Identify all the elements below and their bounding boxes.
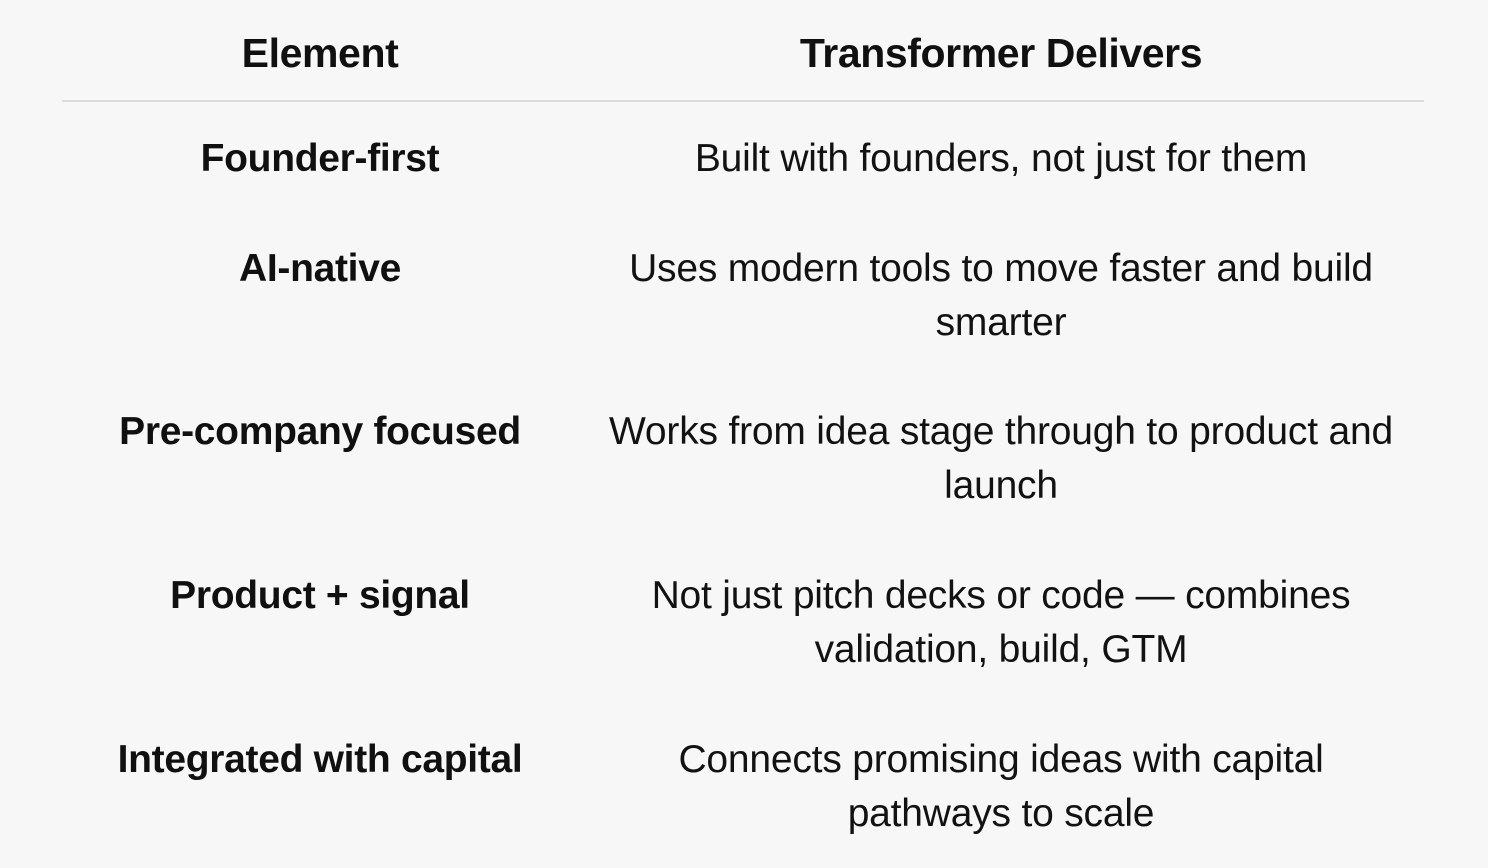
delivers-description: Built with founders, not just for them (578, 132, 1424, 186)
table-cell-delivers: Connects promising ideas with capital pa… (578, 705, 1424, 868)
delivers-description: Works from idea stage through to product… (578, 405, 1424, 513)
delivers-description: Uses modern tools to move faster and bui… (578, 242, 1424, 350)
table-cell-element: Integrated with capital (62, 705, 578, 868)
table-cell-delivers: Built with founders, not just for them (578, 104, 1424, 214)
column-header-transformer-delivers: Transformer Delivers (578, 30, 1424, 77)
element-label: Product + signal (62, 569, 578, 623)
column-header-element: Element (62, 30, 578, 77)
element-label: Pre-company focused (62, 405, 578, 459)
table-header-row: Element Transformer Delivers (62, 0, 1424, 97)
table-row: Product + signal Not just pitch decks or… (62, 541, 1424, 705)
delivers-description: Not just pitch decks or code — combines … (578, 569, 1424, 677)
table-header-cell-element: Element (62, 0, 578, 97)
table-row: Pre-company focused Works from idea stag… (62, 377, 1424, 541)
header-divider (62, 100, 1424, 102)
table-row: AI-native Uses modern tools to move fast… (62, 214, 1424, 378)
header-divider-wrap (62, 100, 1424, 102)
table-header-cell-delivers: Transformer Delivers (578, 0, 1424, 97)
delivers-description: Connects promising ideas with capital pa… (578, 733, 1424, 841)
comparison-table-body: Founder-first Built with founders, not j… (62, 104, 1424, 868)
table-row: Integrated with capital Connects promisi… (62, 705, 1424, 868)
table-cell-element: Founder-first (62, 104, 578, 214)
element-label: Integrated with capital (62, 733, 578, 787)
table-cell-delivers: Uses modern tools to move faster and bui… (578, 214, 1424, 378)
table-cell-delivers: Not just pitch decks or code — combines … (578, 541, 1424, 705)
comparison-table-header: Element Transformer Delivers (62, 0, 1424, 97)
table-cell-element: Pre-company focused (62, 377, 578, 541)
element-label: Founder-first (62, 132, 578, 186)
element-label: AI-native (62, 242, 578, 296)
slide-root: Element Transformer Delivers Founder-fir… (0, 0, 1488, 839)
table-row: Founder-first Built with founders, not j… (62, 104, 1424, 214)
table-cell-element: Product + signal (62, 541, 578, 705)
table-cell-delivers: Works from idea stage through to product… (578, 377, 1424, 541)
table-cell-element: AI-native (62, 214, 578, 378)
